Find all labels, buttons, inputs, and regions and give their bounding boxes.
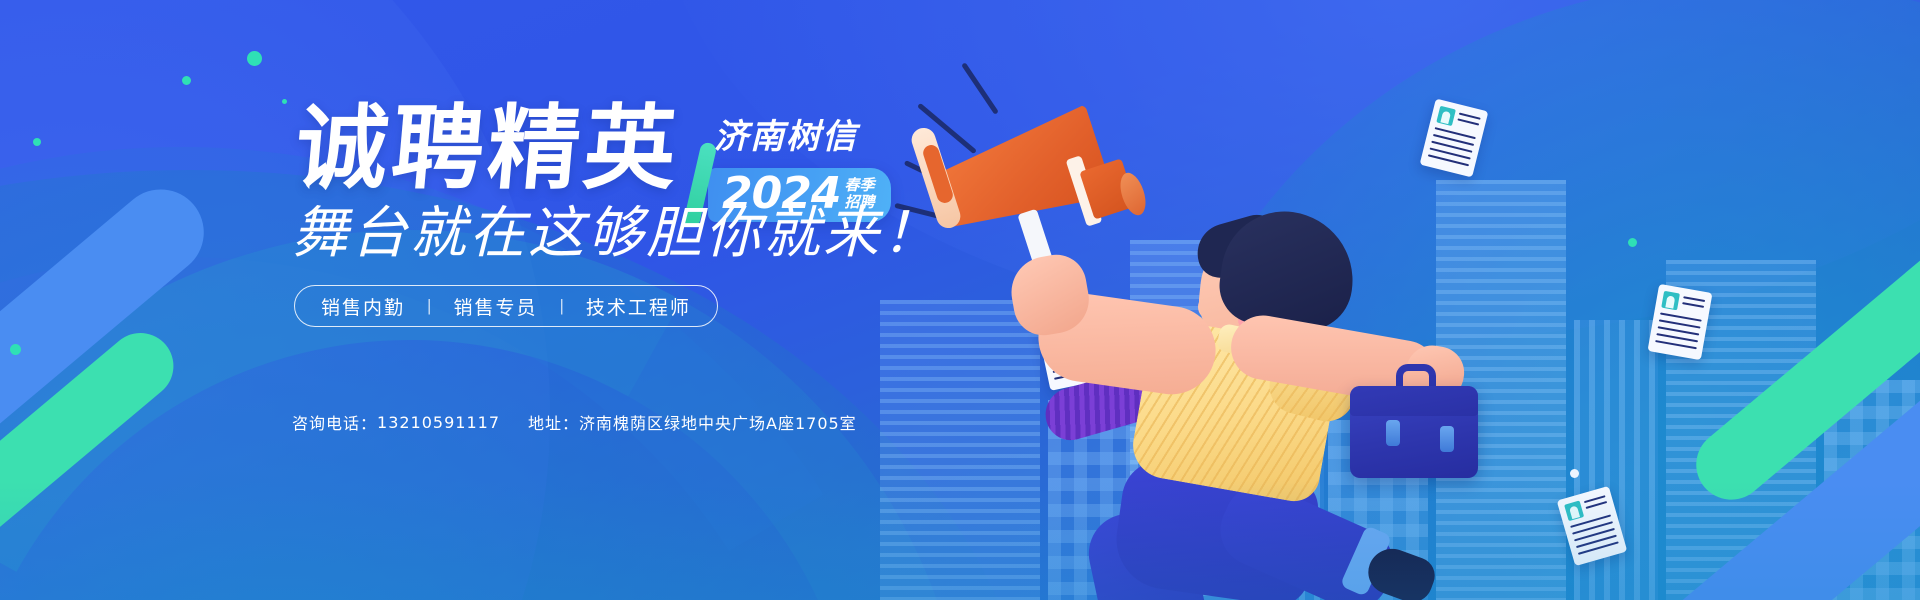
banner-text-content: 诚聘精英 济南树信 2024 春季 招聘 舞台就在这够胆你就来！ 销售内勤 | … <box>0 0 1000 600</box>
subtitle: 舞台就在这够胆你就来！ <box>292 206 941 262</box>
page-title: 诚聘精英 <box>292 103 684 195</box>
job-role-sales-specialist[interactable]: 销售专员 <box>453 293 537 320</box>
job-role-technical-engineer[interactable]: 技术工程师 <box>586 293 691 320</box>
season-line-1: 春季 <box>844 177 874 194</box>
role-separator: | <box>427 296 431 316</box>
job-roles-pill: 销售内勤 | 销售专员 | 技术工程师 <box>294 285 718 327</box>
address-label: 地址： <box>528 410 579 434</box>
briefcase-lid <box>1350 386 1478 416</box>
phone-label: 咨询电话： <box>292 410 377 434</box>
brand-name: 济南树信 <box>714 109 890 158</box>
phone-value[interactable]: 13210591117 <box>377 413 500 432</box>
contact-info: 咨询电话： 13210591117 地址： 济南槐荫区绿地中央广场A座1705室 <box>292 410 857 434</box>
briefcase-clasp <box>1440 426 1454 452</box>
briefcase-clasp <box>1386 420 1400 446</box>
decor-dot-white <box>1570 469 1579 478</box>
job-role-sales-support[interactable]: 销售内勤 <box>321 293 405 320</box>
recruitment-banner: 诚聘精英 济南树信 2024 春季 招聘 舞台就在这够胆你就来！ 销售内勤 | … <box>0 0 1920 600</box>
address-value: 济南槐荫区绿地中央广场A座1705室 <box>579 410 857 434</box>
decor-dot <box>1628 238 1637 247</box>
role-separator: | <box>559 296 563 316</box>
